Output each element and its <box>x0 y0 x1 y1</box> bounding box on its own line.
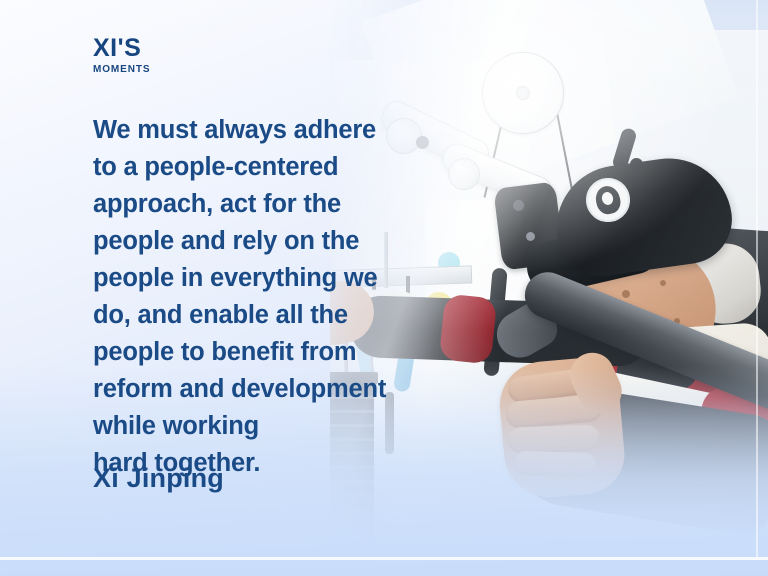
pulley-hub <box>516 86 530 100</box>
cap-top-button <box>630 158 643 171</box>
finger <box>508 424 601 453</box>
quote-attribution: Xi Jinping <box>93 463 224 494</box>
sleeve-red-band <box>439 293 498 364</box>
quote-text: We must always adhere to a people-center… <box>93 112 413 482</box>
quote-card: XI'S MOMENTS We must always adhere to a … <box>0 0 768 576</box>
finger <box>514 451 597 478</box>
brand-logo: XI'S MOMENTS <box>93 36 150 75</box>
skin-spot <box>660 280 666 286</box>
brand-name: XI'S <box>93 36 150 61</box>
brand-tagline: MOMENTS <box>93 65 150 75</box>
machine-pad-bolt <box>526 232 535 241</box>
machine-knob-2 <box>513 200 524 211</box>
skin-spot <box>622 290 630 298</box>
machine-knob-1 <box>416 136 429 149</box>
frame-bottom-line <box>0 557 768 560</box>
frame-right-line <box>756 0 758 560</box>
machine-arm-joint-2 <box>448 158 480 190</box>
